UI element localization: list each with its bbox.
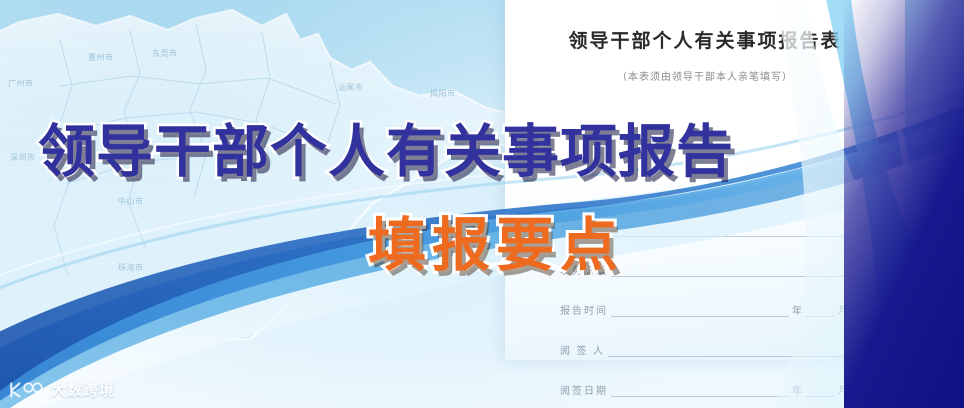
map-region-label: 深圳市 [10,152,36,163]
watermark-text: 大数跨境 [51,379,115,400]
banner-image: 惠州市东莞市广州市汕尾市揭阳市深圳市中山市珠海市 领导干部个人有关事项报告表 （… [0,0,964,408]
form-field-year[interactable] [611,305,789,317]
k-infinity-logo-icon [8,380,44,400]
page-subtitle: 填报要点 [368,198,624,282]
page-title: 领导干部个人有关事项报告 [38,106,734,188]
watermark: 大数跨境 [8,379,115,400]
form-row-label: 报告时间 [560,302,608,317]
map-region-label: 汕尾市 [338,82,364,93]
map-region-label: 中山市 [118,196,144,207]
map-region-label: 惠州市 [88,52,114,63]
map-region-label: 广州市 [8,78,34,89]
form-row-label: 阅 签 人 [560,342,605,357]
form-row-label: 阅签日期 [560,382,608,397]
right-gradient-panel [844,0,964,408]
map-region-label: 东莞市 [152,48,178,59]
map-region-label: 珠海市 [118,262,144,273]
form-field-year[interactable] [611,385,789,397]
map-region-label: 揭阳市 [430,88,456,99]
